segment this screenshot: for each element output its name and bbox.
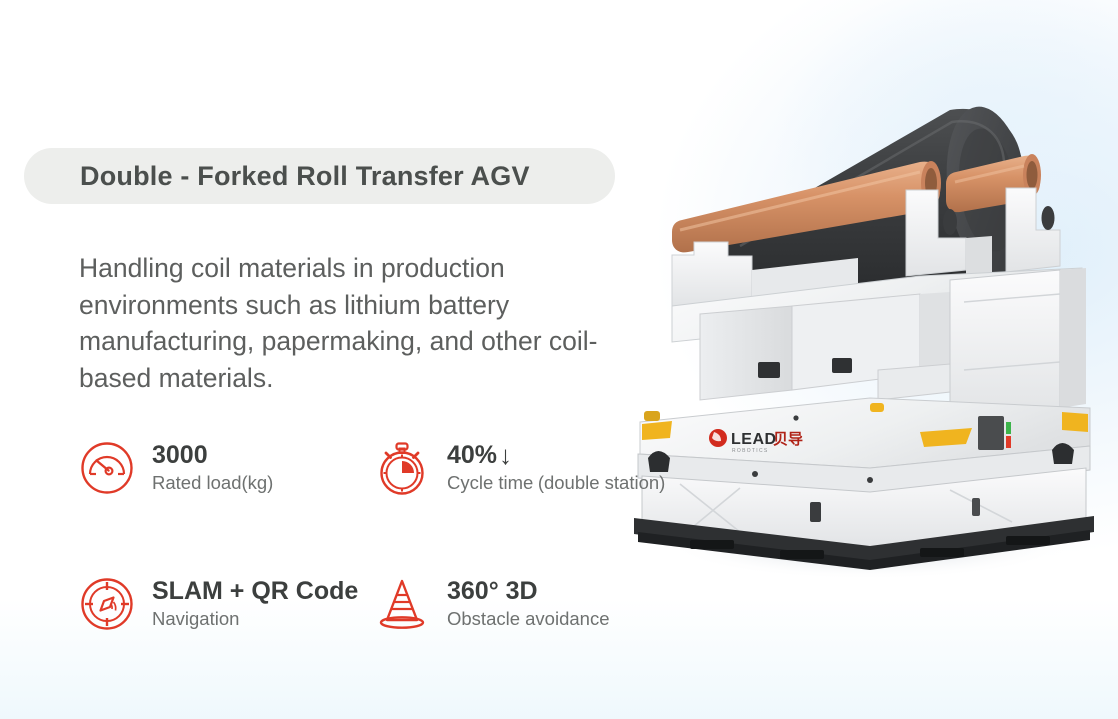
description-text: Handling coil materials in production en… — [79, 250, 639, 396]
spec-label-line-1: Obstacle avoidance — [447, 608, 610, 629]
spec-item-cycle-time: 40% ↓ Cycle time (double station) — [374, 438, 674, 496]
product-slide: LEAD 贝导 ROBOTICS — [0, 0, 1118, 719]
page-title: Double - Forked Roll Transfer AGV — [80, 161, 530, 192]
spec-row-1: 3000 Rated load(kg) — [79, 438, 699, 496]
svg-text:贝导: 贝导 — [773, 430, 803, 448]
svg-text:LEAD: LEAD — [731, 431, 777, 448]
compass-icon — [79, 576, 135, 632]
corner-marker-right — [1062, 412, 1088, 432]
down-arrow-icon: ↓ — [499, 442, 512, 468]
spec-text: SLAM + QR Code Navigation — [152, 574, 358, 631]
spec-value: SLAM + QR Code — [152, 576, 358, 606]
spec-label-line-2: (double station) — [538, 472, 666, 493]
stopwatch-icon — [374, 440, 430, 496]
spec-item-obstacle-avoidance: 360° 3D Obstacle avoidance — [374, 574, 674, 632]
spec-value-number: 360° 3D — [447, 576, 538, 606]
spec-item-rated-load: 3000 Rated load(kg) — [79, 438, 374, 496]
title-pill: Double - Forked Roll Transfer AGV — [24, 148, 615, 204]
spec-label-line-1: Rated load(kg) — [152, 472, 273, 493]
spec-value: 360° 3D — [447, 576, 610, 606]
spec-value-number: 3000 — [152, 440, 208, 470]
spec-value-number: SLAM + QR Code — [152, 576, 358, 606]
spec-text: 3000 Rated load(kg) — [152, 438, 273, 495]
spec-label-line-1: Cycle time — [447, 472, 533, 493]
spec-item-navigation: SLAM + QR Code Navigation — [79, 574, 374, 632]
spec-text: 40% ↓ Cycle time (double station) — [447, 438, 665, 495]
spec-text: 360° 3D Obstacle avoidance — [447, 574, 610, 631]
text-content: Double - Forked Roll Transfer AGV Handli… — [0, 0, 700, 719]
spec-value: 3000 — [152, 440, 273, 470]
gauge-icon — [79, 440, 135, 496]
traffic-cone-icon — [374, 576, 430, 632]
spec-value: 40% ↓ — [447, 440, 665, 470]
spec-value-number: 40% — [447, 440, 497, 470]
spec-label-line-1: Navigation — [152, 608, 239, 629]
svg-text:ROBOTICS: ROBOTICS — [732, 448, 769, 454]
spec-row-2: SLAM + QR Code Navigation — [79, 574, 699, 632]
spec-grid: 3000 Rated load(kg) — [79, 438, 699, 632]
